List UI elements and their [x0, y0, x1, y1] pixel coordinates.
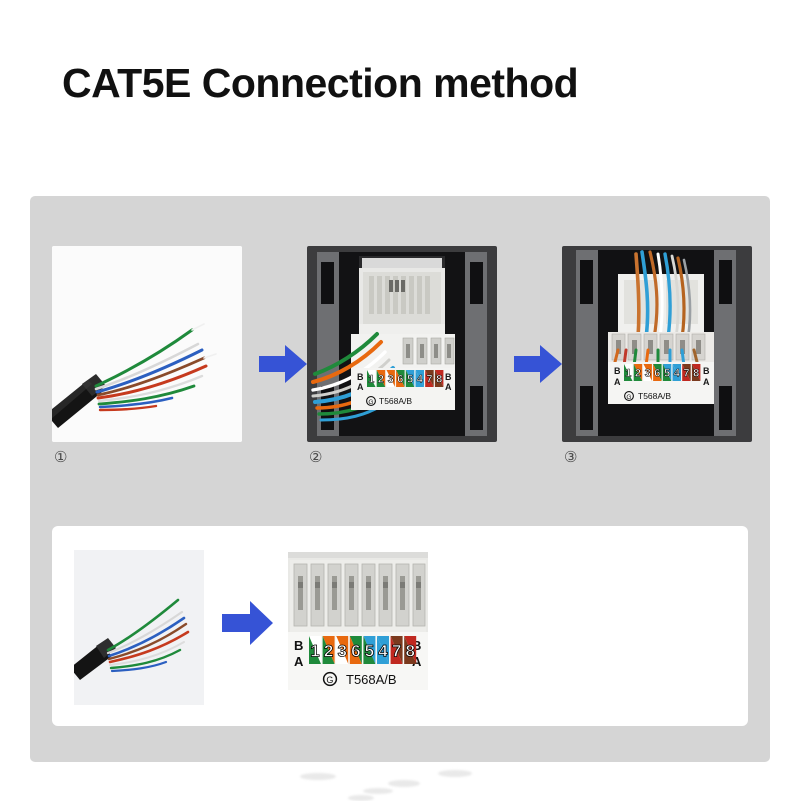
- watermark-smudge-4: [438, 770, 472, 777]
- pin-number: 3: [645, 368, 651, 380]
- svg-text:A: A: [445, 382, 452, 392]
- pin-6: 6: [653, 364, 662, 381]
- pin-number: 5: [407, 374, 413, 386]
- svg-text:T568A/B: T568A/B: [379, 396, 412, 406]
- pin-5: 5: [663, 364, 672, 381]
- watermark-smudge-3: [363, 788, 393, 794]
- pin-number: 5: [664, 368, 670, 380]
- watermark-smudge-2: [388, 780, 420, 787]
- pin-4: 4: [416, 370, 425, 387]
- step-1-photo: [52, 246, 242, 442]
- svg-text:B: B: [703, 366, 710, 376]
- arrow-right-icon-2: [512, 342, 564, 386]
- pin-number: 8: [693, 368, 699, 380]
- step-1: ①: [52, 246, 242, 442]
- pin-2: 2: [377, 370, 386, 387]
- watermark-smudge-1: [300, 773, 336, 780]
- pin-2: 2: [323, 636, 335, 664]
- svg-text:G: G: [626, 394, 631, 401]
- pin-1: 1: [367, 370, 376, 387]
- pin-number: 6: [351, 641, 360, 660]
- pin-2: 2: [634, 364, 643, 381]
- pin-7: 7: [391, 636, 403, 664]
- svg-text:G: G: [326, 675, 333, 685]
- pin-number: 5: [365, 641, 374, 660]
- summary-cable-photo: [74, 550, 204, 705]
- svg-text:T568A/B: T568A/B: [638, 391, 671, 401]
- pin-8: 8: [404, 636, 416, 664]
- step-2-photo: B A B A 12365478 T568A/B G: [307, 246, 497, 442]
- pin-4: 4: [377, 636, 389, 664]
- svg-text:B: B: [357, 372, 364, 382]
- pin-number: 8: [436, 374, 442, 386]
- pin-8: 8: [435, 370, 444, 387]
- pin-number: 4: [674, 368, 681, 380]
- pin-3: 3: [386, 370, 395, 387]
- pin-8: 8: [692, 364, 701, 381]
- infographic-card: ①: [30, 196, 770, 762]
- arrow-right-icon-3: [220, 598, 275, 648]
- pin-1: 1: [309, 636, 321, 664]
- pin-number: 7: [426, 374, 432, 386]
- pin-7: 7: [682, 364, 691, 381]
- pin-number: 8: [405, 641, 414, 660]
- pin-5: 5: [406, 370, 415, 387]
- standard-label-bottom: T568A/B: [346, 672, 397, 687]
- pin-number: 1: [310, 641, 319, 660]
- pin-number: 4: [417, 374, 424, 386]
- watermark-smudge-5: [348, 795, 374, 801]
- pin-number: 3: [388, 374, 394, 386]
- step-3: B A B A 12365478 T568A/B G ③: [562, 246, 752, 442]
- pin-1: 1: [624, 364, 633, 381]
- pin-number: 7: [392, 641, 401, 660]
- step-3-photo: B A B A 12365478 T568A/B G: [562, 246, 752, 442]
- pin-3: 3: [336, 636, 348, 664]
- pin-number: 1: [368, 374, 374, 386]
- pin-number: 6: [654, 368, 660, 380]
- svg-text:B: B: [445, 372, 452, 382]
- pin-number: 2: [635, 368, 641, 380]
- pin-4: 4: [673, 364, 682, 381]
- svg-text:A: A: [294, 654, 304, 669]
- step-1-number: ①: [54, 450, 67, 465]
- pin-number: 2: [378, 374, 384, 386]
- pin-number: 6: [397, 374, 403, 386]
- pin-6: 6: [396, 370, 405, 387]
- svg-text:B: B: [614, 366, 621, 376]
- step-2-number: ②: [309, 450, 322, 465]
- keystone-jack-top-view: B A B A 12365478 T568A/B G: [284, 546, 434, 706]
- steps-row: ①: [52, 246, 752, 486]
- pin-number: 7: [683, 368, 689, 380]
- arrow-right-icon-1: [257, 342, 309, 386]
- pin-7: 7: [425, 370, 434, 387]
- pin-5: 5: [363, 636, 375, 664]
- pin-number: 1: [625, 368, 631, 380]
- page-title: CAT5E Connection method: [62, 60, 578, 107]
- svg-text:A: A: [357, 382, 364, 392]
- step-3-number: ③: [564, 450, 577, 465]
- pin-6: 6: [350, 636, 362, 664]
- pin-number: 3: [337, 641, 346, 660]
- summary-panel: B A B A 12365478 T568A/B G: [52, 526, 748, 726]
- svg-text:A: A: [614, 377, 621, 387]
- step-2: B A B A 12365478 T568A/B G ②: [307, 246, 497, 442]
- pin-number: 4: [378, 641, 388, 660]
- svg-text:A: A: [703, 377, 710, 387]
- pin-3: 3: [643, 364, 652, 381]
- svg-text:B: B: [294, 638, 303, 653]
- svg-text:G: G: [368, 399, 373, 406]
- pin-number: 2: [324, 641, 333, 660]
